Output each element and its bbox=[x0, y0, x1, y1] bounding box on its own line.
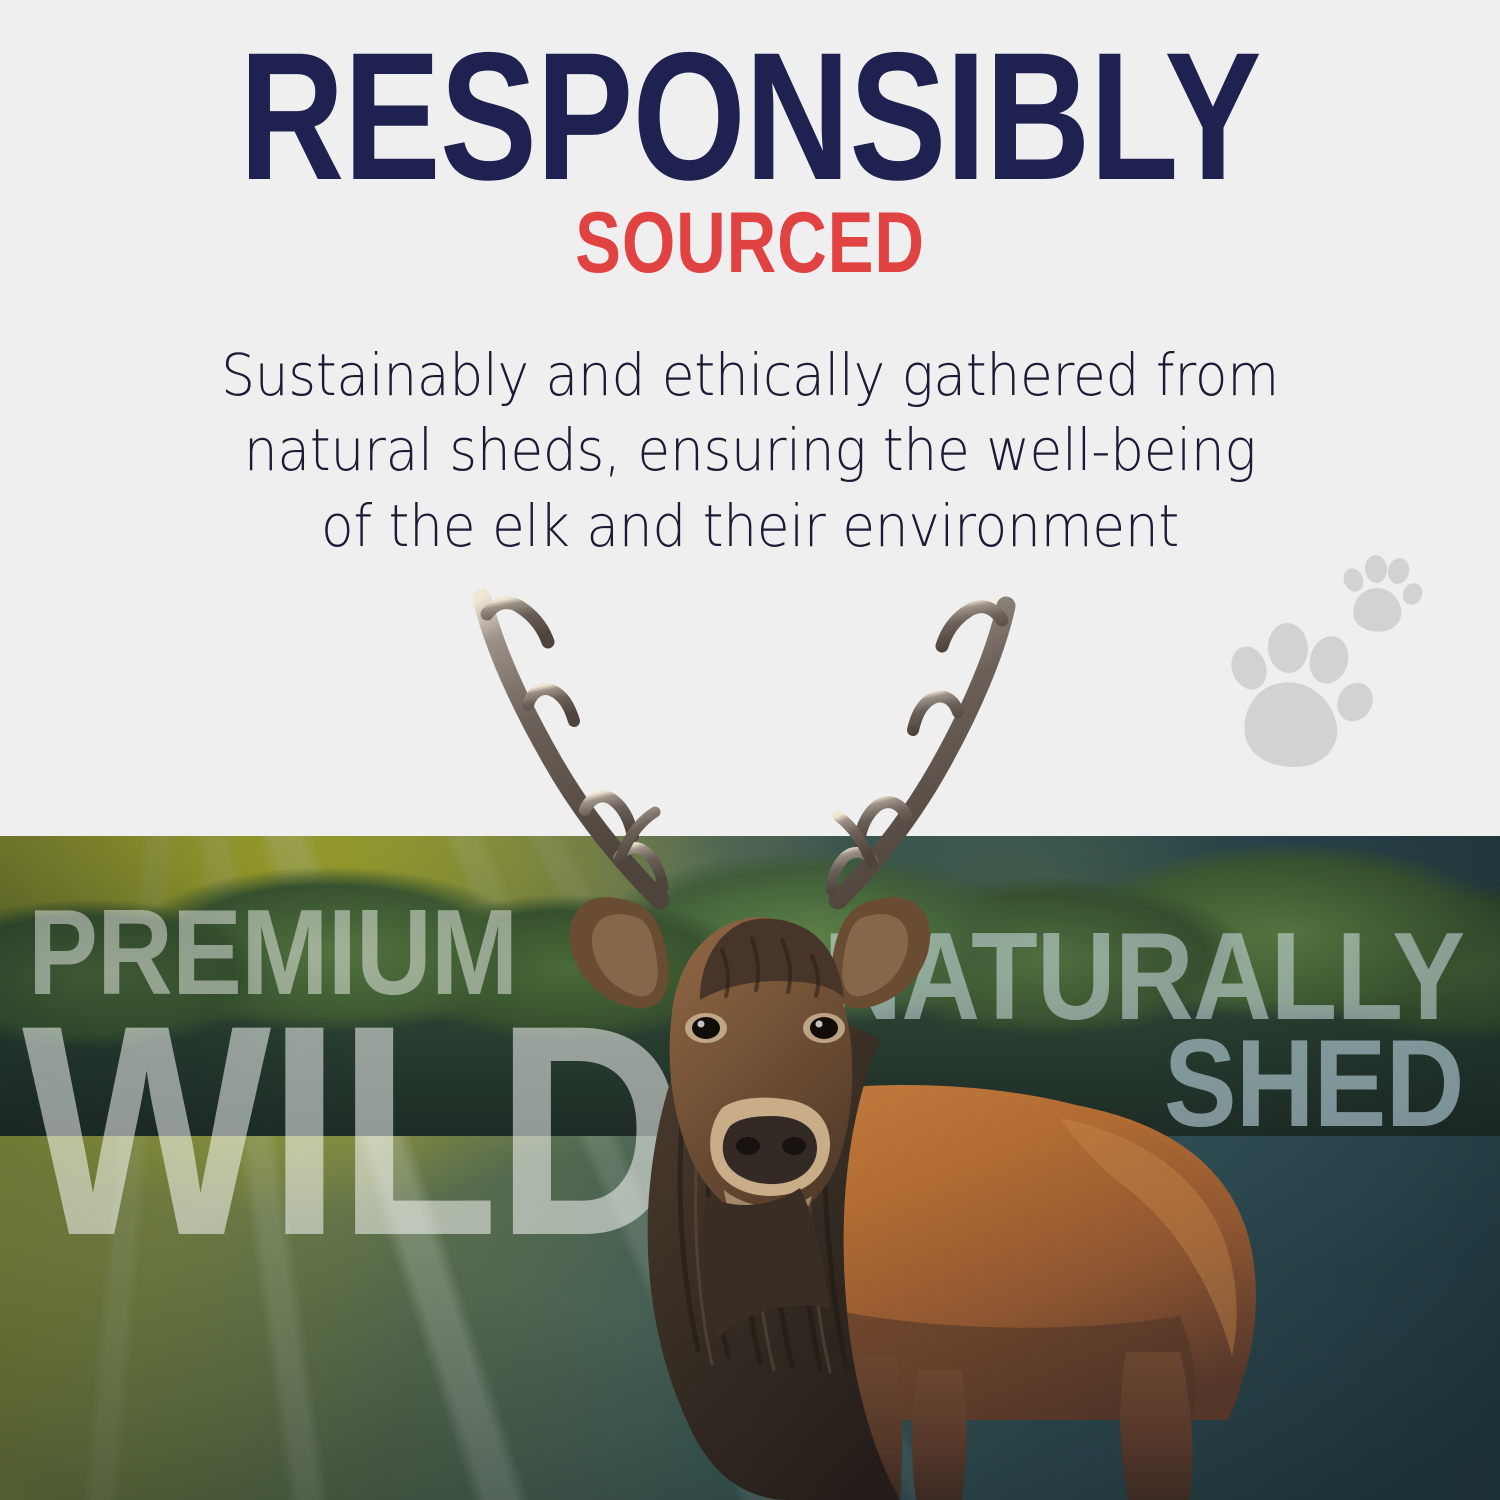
headline-secondary: SOURCED bbox=[150, 205, 1350, 282]
description-line-1: Sustainably and ethically gathered from bbox=[60, 338, 1440, 413]
paw-toe bbox=[1304, 632, 1354, 689]
headline-primary: RESPONSIBLY bbox=[150, 42, 1350, 191]
overlay-text-wild: WILD bbox=[22, 1010, 682, 1250]
overlay-text-naturally: NATURALLY bbox=[823, 928, 1464, 1027]
headline-block: RESPONSIBLY SOURCED bbox=[0, 42, 1500, 283]
paw-toe bbox=[1226, 642, 1273, 695]
paw-toe bbox=[1340, 565, 1367, 594]
paw-print-large-icon bbox=[1232, 622, 1378, 772]
paw-pad bbox=[1237, 675, 1343, 776]
description-line-2: natural sheds, ensuring the well-being bbox=[60, 413, 1440, 488]
product-infographic-poster: PREMIUM WILD NATURALLY SHED bbox=[0, 0, 1500, 1500]
overlay-text-shed: SHED bbox=[1164, 1035, 1464, 1134]
paw-toe bbox=[1330, 676, 1379, 728]
paw-toe bbox=[1399, 580, 1426, 608]
paw-toe bbox=[1266, 621, 1310, 674]
description-paragraph: Sustainably and ethically gathered from … bbox=[60, 338, 1440, 564]
description-line-3: of the elk and their environment bbox=[60, 489, 1440, 564]
